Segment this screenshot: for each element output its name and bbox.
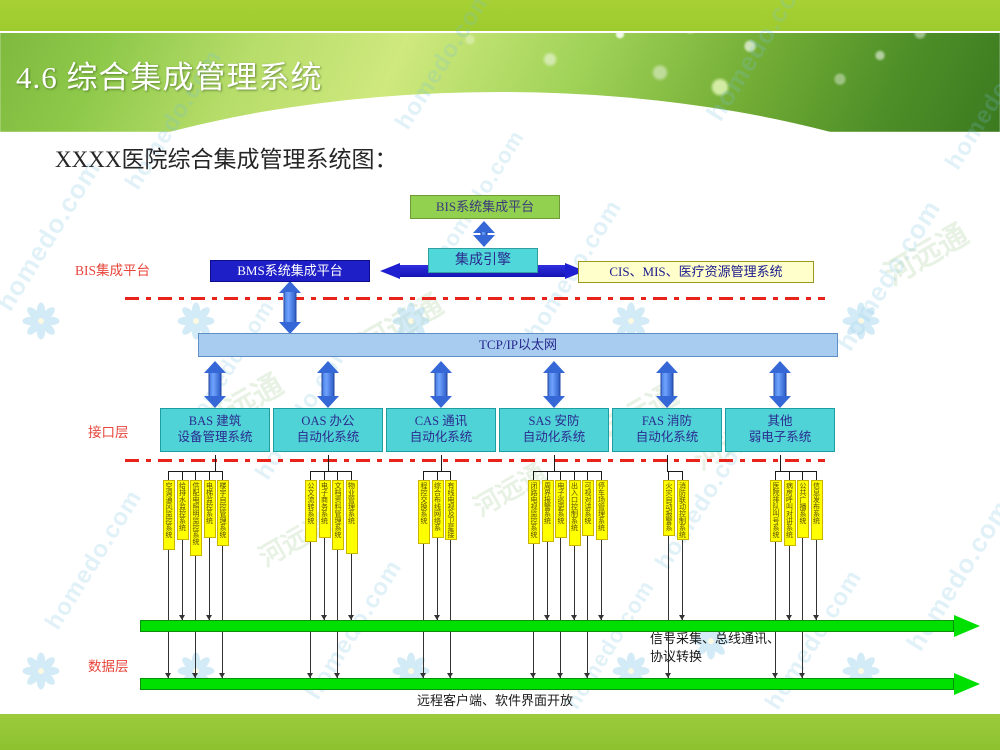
data-arrow-upper <box>140 620 980 632</box>
subsystem-chip[interactable]: 综合布线网络系统 <box>432 480 444 538</box>
data-tick-line <box>337 550 338 678</box>
interface-box-sas[interactable]: SAS 安防 自动化系统 <box>499 408 609 452</box>
data-tick-line <box>310 542 311 678</box>
connector-drop <box>423 471 424 480</box>
connector-stem-oas <box>328 455 329 471</box>
subsystem-chip[interactable]: 文档资料管理系统 <box>332 480 344 550</box>
subsystem-chip[interactable]: 物业管理系统 <box>346 480 358 554</box>
connector-drop <box>337 471 338 480</box>
subsystem-chip[interactable]: 闭路电视监控系统 <box>528 480 540 544</box>
connector-stem-fas <box>667 455 668 471</box>
subsystem-chip[interactable]: 程控交换系统 <box>418 480 430 544</box>
connector-drop <box>682 471 683 480</box>
node-bms-platform[interactable]: BMS系统集成平台 <box>210 260 370 282</box>
subsystem-chip[interactable]: 医院排队叫号系统 <box>770 480 782 542</box>
separator-interface-layer <box>125 459 825 462</box>
connector-drop <box>802 471 803 480</box>
connector-trunk-other <box>775 471 816 472</box>
layer-label-integration: BIS集成平台 <box>75 259 150 279</box>
connector-stem-cas <box>441 455 442 471</box>
data-tick-line <box>423 544 424 678</box>
data-tick-line <box>802 538 803 678</box>
data-tick-line <box>222 546 223 678</box>
subsystem-chip[interactable]: 电子商务系统 <box>319 480 331 538</box>
data-tick-line <box>533 544 534 678</box>
data-tick-line <box>168 550 169 678</box>
layer-label-interface: 接口层 <box>88 421 129 441</box>
data-tick-line <box>682 540 683 620</box>
connector-drop <box>601 471 602 480</box>
connector-drop <box>168 471 169 480</box>
connector-drop <box>351 471 352 480</box>
subsystem-chip[interactable]: 公文流转系统 <box>305 480 317 542</box>
subsystem-chip[interactable]: 电子巡更系统 <box>555 480 567 538</box>
arrow-network-to-sas <box>541 361 567 408</box>
data-note-upper: 信号采集、总线通讯、 协议转换 <box>650 630 780 665</box>
connector-drop <box>789 471 790 480</box>
data-tick-line <box>450 540 451 678</box>
connector-drop <box>195 471 196 480</box>
arrow-bis-to-engine <box>477 221 491 247</box>
connector-drop <box>547 471 548 480</box>
connector-stem-bas <box>215 455 216 471</box>
connector-drop <box>816 471 817 480</box>
node-bis-platform[interactable]: BIS系统集成平台 <box>410 195 560 219</box>
subsystem-chip[interactable]: 可视对讲系统 <box>582 480 594 536</box>
connector-stem-other <box>780 455 781 471</box>
connector-drop <box>222 471 223 480</box>
subsystem-chip[interactable]: 电梯监控系统 <box>204 480 216 538</box>
arrow-network-to-cas <box>428 361 454 408</box>
interface-box-bas[interactable]: BAS 建筑 设备管理系统 <box>160 408 270 452</box>
data-note-lower: 远程客户端、软件界面开放 <box>417 692 573 710</box>
arrow-network-to-oas <box>315 361 341 408</box>
arrow-network-to-other <box>767 361 793 408</box>
connector-trunk-fas <box>667 471 682 472</box>
node-network-bus[interactable]: TCP/IP以太网 <box>198 333 838 357</box>
interface-box-fas[interactable]: FAS 消防 自动化系统 <box>612 408 722 452</box>
interface-box-other[interactable]: 其他 弱电子系统 <box>725 408 835 452</box>
connector-drop <box>182 471 183 480</box>
data-tick-line <box>437 538 438 620</box>
subsystem-chip[interactable]: 空调通风监控系统 <box>163 480 175 550</box>
data-tick-line <box>182 540 183 620</box>
connector-drop <box>668 471 669 480</box>
subsystem-chip[interactable]: 信息发布系统 <box>811 480 823 540</box>
arrow-bms-to-network <box>277 281 303 334</box>
subsystem-chip[interactable]: 停车场管理系统 <box>596 480 608 540</box>
connector-drop <box>533 471 534 480</box>
subsystem-chip[interactable]: 供配电照明监控系统 <box>190 480 202 556</box>
connector-drop <box>775 471 776 480</box>
data-tick-line <box>195 556 196 678</box>
subsystem-chip[interactable]: 楼宇自控管理系统 <box>217 480 229 546</box>
integration-architecture-diagram: BIS集成平台 接口层 数据层 BIS系统集成平台 集成引擎 BMS系统集成平台… <box>0 0 1000 750</box>
subsystem-chip[interactable]: 有线电视及卫星接收系统 <box>445 480 457 540</box>
connector-trunk-sas <box>533 471 601 472</box>
interface-box-oas[interactable]: OAS 办公 自动化系统 <box>273 408 383 452</box>
node-hospital-systems[interactable]: CIS、MIS、医疗资源管理系统 <box>578 261 814 283</box>
connector-drop <box>209 471 210 480</box>
separator-integration-layer <box>125 297 825 300</box>
connector-stem-sas <box>554 455 555 471</box>
data-tick-line <box>209 538 210 620</box>
data-tick-line <box>547 542 548 620</box>
connector-drop <box>450 471 451 480</box>
subsystem-chip[interactable]: 消防联动控制系统 <box>677 480 689 540</box>
subsystem-chip[interactable]: 公共广播系统 <box>797 480 809 538</box>
data-arrow-lower <box>140 678 980 690</box>
node-integration-engine[interactable]: 集成引擎 <box>428 248 538 273</box>
data-tick-line <box>816 540 817 620</box>
data-tick-line <box>789 546 790 620</box>
subsystem-chip[interactable]: 出入口控制系统 <box>569 480 581 546</box>
slide-canvas: 4.6 综合集成管理系统 XXXX医院综合集成管理系统图： homedo.com… <box>0 0 1000 750</box>
subsystem-chip[interactable]: 病房呼叫对讲系统 <box>784 480 796 546</box>
subsystem-chip[interactable]: 周界报警系统 <box>542 480 554 542</box>
data-tick-line <box>324 538 325 620</box>
connector-drop <box>560 471 561 480</box>
connector-drop <box>324 471 325 480</box>
data-tick-line <box>560 538 561 678</box>
connector-drop <box>310 471 311 480</box>
subsystem-chip[interactable]: 火灾自动报警系统 <box>663 480 675 536</box>
interface-box-cas[interactable]: CAS 通讯 自动化系统 <box>386 408 496 452</box>
data-tick-line <box>601 540 602 620</box>
arrow-network-to-bas <box>202 361 228 408</box>
data-tick-line <box>587 536 588 678</box>
subsystem-chip[interactable]: 给排水监控系统 <box>177 480 189 540</box>
connector-drop <box>437 471 438 480</box>
connector-drop <box>587 471 588 480</box>
connector-trunk-oas <box>310 471 351 472</box>
connector-drop <box>574 471 575 480</box>
arrow-network-to-fas <box>654 361 680 408</box>
layer-label-data: 数据层 <box>88 655 129 675</box>
data-tick-line <box>574 546 575 620</box>
data-tick-line <box>351 554 352 620</box>
